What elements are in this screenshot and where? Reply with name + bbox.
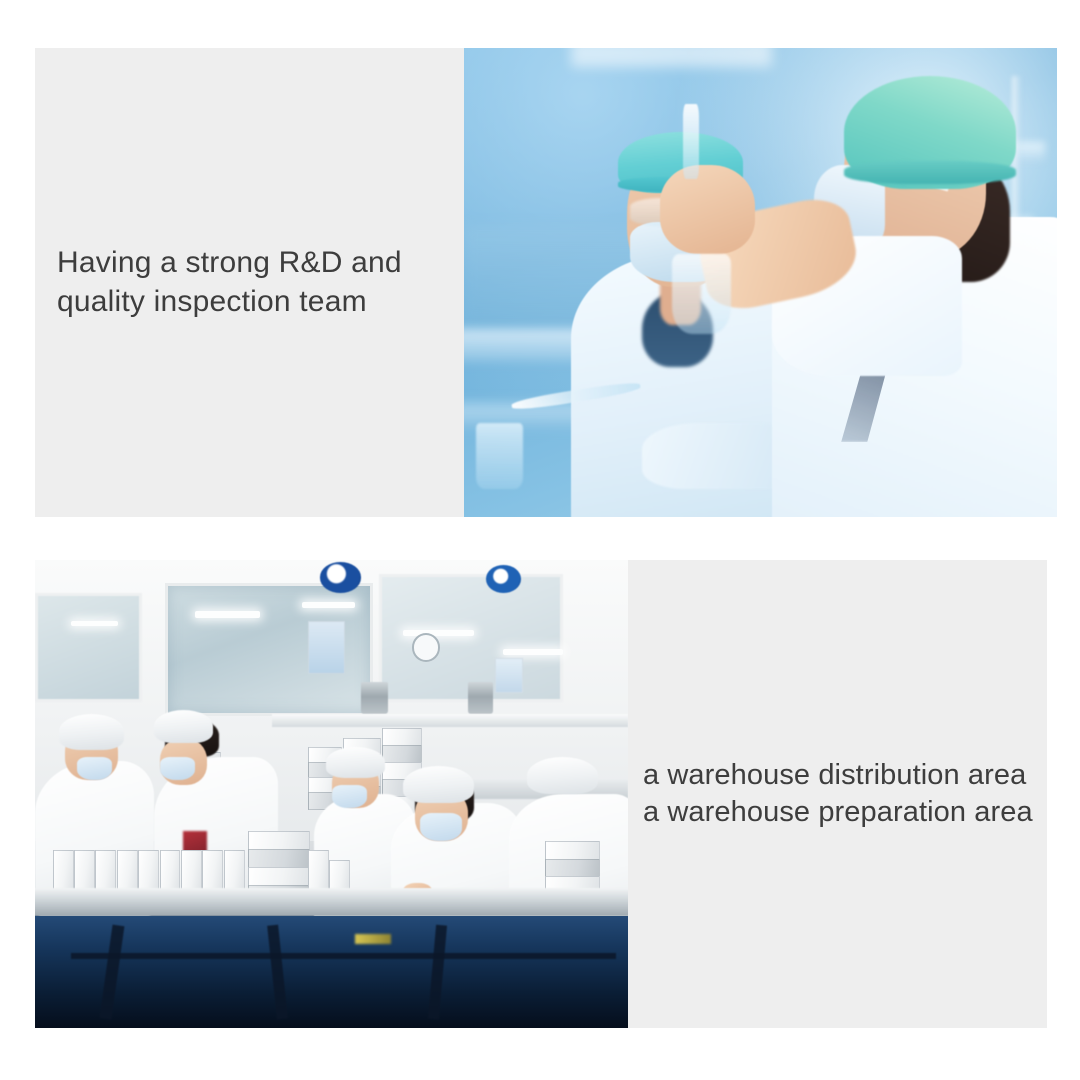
ceiling-light [302,602,355,608]
caption-panel-warehouse: a warehouse distribution area a warehous… [628,560,1047,1028]
ceiling-light [195,611,260,618]
worker-2-face-mask [160,757,196,780]
worker-5-hairnet [527,757,598,794]
worker-4-hairnet [403,766,474,803]
worker-right-hairnet-band [844,161,1016,184]
table-rail [71,953,617,959]
ceiling-light [403,630,474,636]
worker-3-face-mask [332,785,368,808]
section-rnd-quality: Having a strong R&D and quality inspecti… [35,48,1057,517]
lab-quality-inspection-photo [464,48,1057,517]
glass-beaker-held [672,254,731,334]
lab-ceiling-light [571,48,773,67]
wall-clock [412,633,441,662]
wall-notice-board [308,621,346,674]
company-logo-sign [320,562,362,592]
bench-beaker [476,423,523,489]
worker-2-hairnet [154,710,213,743]
table-under-frame [35,916,628,1028]
floor-marking [355,934,391,943]
wall-notice-board [495,658,524,693]
back-counter [272,714,628,726]
caption-warehouse: a warehouse distribution area a warehous… [643,757,1033,832]
stainless-container [468,682,493,715]
stainless-work-table [35,888,628,916]
warehouse-packing-photo [35,560,628,1028]
caption-rnd-quality: Having a strong R&D and quality inspecti… [57,244,402,320]
worker-3-hairnet [326,747,385,777]
worker-4-face-mask [420,813,462,841]
sample-vial [683,104,698,179]
ceiling-light [503,649,562,655]
company-logo-sign [486,565,522,593]
worker-1-face-mask [77,757,113,780]
section-warehouse: a warehouse distribution area a warehous… [35,560,1047,1028]
ceiling-light [71,621,118,626]
warehouse-window-left [35,593,142,702]
caption-panel-rnd: Having a strong R&D and quality inspecti… [35,48,464,517]
worker-right-hand [660,165,755,254]
stainless-container [361,682,388,715]
worker-1-hairnet [59,714,124,749]
worker-left-arm [642,423,784,489]
